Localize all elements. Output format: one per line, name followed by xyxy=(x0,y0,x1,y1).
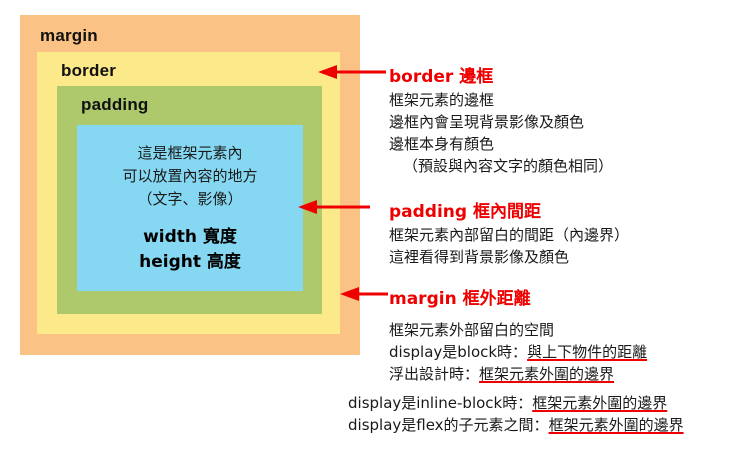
padding-desc-line-2: 這裡看得到背景影像及顏色 xyxy=(389,246,629,268)
annotation-body-padding: 框架元素內部留白的間距（內邊界） 這裡看得到背景影像及顏色 xyxy=(389,224,629,268)
padding-desc-line-1: 框架元素內部留白的間距（內邊界） xyxy=(389,224,629,246)
annotation-heading-border: border 邊框 xyxy=(389,62,493,87)
content-box: 這是框架元素內 可以放置內容的地方 （文字、影像） width 寬度 heigh… xyxy=(77,125,303,291)
box-model-diagram: 這是框架元素內 可以放置內容的地方 （文字、影像） width 寬度 heigh… xyxy=(0,0,750,461)
border-desc-line-2: 邊框內會呈現背景影像及顏色 xyxy=(389,111,613,133)
border-desc-line-3: 邊框本身有顏色 xyxy=(389,133,613,155)
border-desc-line-4: （預設與內容文字的顏色相同） xyxy=(389,155,613,177)
annotation-body-border: 框架元素的邊框 邊框內會呈現背景影像及顏色 邊框本身有顏色 （預設與內容文字的顏… xyxy=(389,89,613,177)
height-label: height 高度 xyxy=(139,250,241,275)
margin-flex-prefix: display是flex的子元素之間： xyxy=(348,416,549,434)
margin-inline-block-value: 框架元素外圍的邊界 xyxy=(532,394,667,412)
margin-desc-line-5: display是flex的子元素之間：框架元素外圍的邊界 xyxy=(348,414,684,436)
content-line-2: 可以放置內容的地方 xyxy=(122,165,257,188)
content-line-1: 這是框架元素內 xyxy=(122,142,257,165)
margin-display-block-value: 與上下物件的距離 xyxy=(527,343,647,361)
width-label: width 寬度 xyxy=(139,225,241,250)
margin-box-label: margin xyxy=(40,26,98,46)
margin-inline-block-prefix: display是inline-block時： xyxy=(348,394,532,412)
annotation-heading-padding: padding 框內間距 xyxy=(389,197,541,222)
margin-float-value: 框架元素外圍的邊界 xyxy=(479,365,614,383)
annotation-body-margin: 框架元素外部留白的空間 display是block時：與上下物件的距離 浮出設計… xyxy=(389,319,647,385)
content-box-dimensions: width 寬度 height 高度 xyxy=(139,225,241,275)
margin-desc-line-1: 框架元素外部留白的空間 xyxy=(389,319,647,341)
margin-desc-line-4: display是inline-block時：框架元素外圍的邊界 xyxy=(348,392,684,414)
border-box-label: border xyxy=(61,61,116,81)
margin-desc-line-3: 浮出設計時：框架元素外圍的邊界 xyxy=(389,363,647,385)
margin-display-block-prefix: display是block時： xyxy=(389,343,527,361)
margin-flex-value: 框架元素外圍的邊界 xyxy=(549,416,684,434)
margin-extra-notes: display是inline-block時：框架元素外圍的邊界 display是… xyxy=(348,392,684,436)
margin-float-prefix: 浮出設計時： xyxy=(389,365,479,383)
margin-desc-line-2: display是block時：與上下物件的距離 xyxy=(389,341,647,363)
padding-box-label: padding xyxy=(81,95,149,115)
border-desc-line-1: 框架元素的邊框 xyxy=(389,89,613,111)
annotation-heading-margin: margin 框外距離 xyxy=(389,284,531,309)
content-line-3: （文字、影像） xyxy=(122,188,257,211)
content-box-description: 這是框架元素內 可以放置內容的地方 （文字、影像） xyxy=(122,142,257,211)
